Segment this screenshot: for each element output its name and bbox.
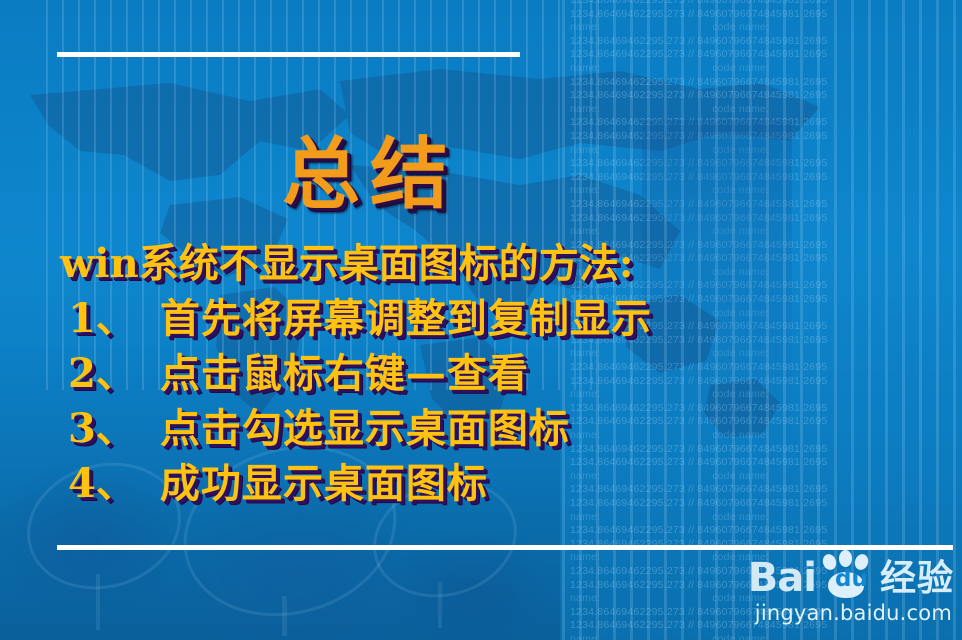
step-3-text: 点击勾选显示桌面图标: [160, 405, 570, 452]
body-line-step-4: 4、成功显示桌面图标: [60, 456, 920, 511]
baidu-jingyan-text: 经验: [880, 560, 954, 598]
step-2-text: 点击鼠标右键—查看: [160, 350, 529, 397]
body-line-step-3: 3、点击勾选显示桌面图标: [60, 401, 920, 456]
baidu-watermark: Bai du 经验 jingyan.baidu.com: [726, 548, 954, 632]
step-2-number: 2、: [68, 350, 136, 397]
body-line-heading-text: win系统不显示桌面图标的方法:: [60, 240, 633, 287]
baidu-logo: Bai du 经验: [726, 548, 954, 598]
step-3-number: 3、: [68, 405, 136, 452]
step-4-number: 4、: [68, 460, 136, 507]
step-1-number: 1、: [68, 295, 136, 342]
slide-body: win系统不显示桌面图标的方法: 1、首先将屏幕调整到复制显示 2、点击鼠标右键…: [60, 236, 920, 511]
slide-title: 总结: [0, 132, 740, 218]
baidu-paw-icon: du: [819, 552, 873, 600]
presentation-slide: 1234.86469462295.273 // 8496079667484598…: [0, 0, 962, 640]
step-4-text: 成功显示桌面图标: [160, 460, 488, 507]
body-line-heading: win系统不显示桌面图标的方法:: [60, 236, 920, 291]
body-line-step-2: 2、点击鼠标右键—查看: [60, 346, 920, 401]
baidu-du-text: du: [835, 568, 868, 591]
baidu-bai-text: Bai: [748, 558, 816, 598]
body-line-step-1: 1、首先将屏幕调整到复制显示: [60, 291, 920, 346]
top-divider-line: [57, 52, 520, 57]
step-1-text: 首先将屏幕调整到复制显示: [160, 295, 652, 342]
baidu-url: jingyan.baidu.com: [726, 600, 954, 626]
